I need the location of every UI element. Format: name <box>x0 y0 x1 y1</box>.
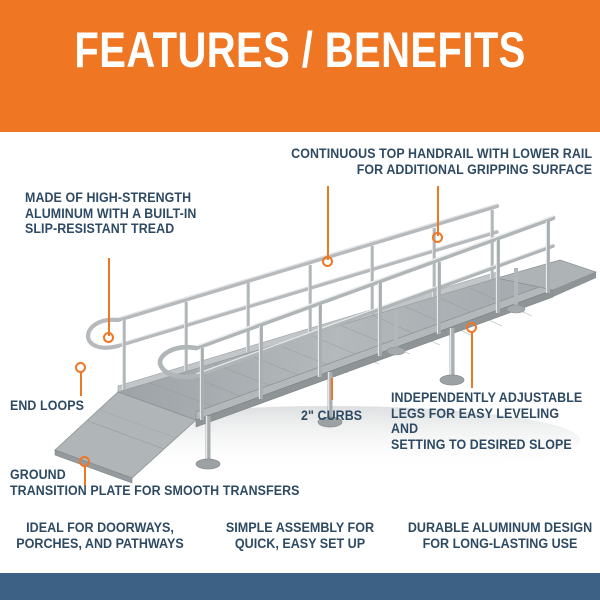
page-title: FEATURES / BENEFITS <box>74 25 525 75</box>
dot-tread <box>103 332 114 343</box>
dot-handrail-b <box>432 232 443 243</box>
features-benefits-infographic: FEATURES / BENEFITS <box>0 0 600 600</box>
leader-handrail-a <box>327 186 329 260</box>
callout-curbs: 2" CURBS <box>301 408 362 424</box>
tagline-row: IDEAL FOR DOORWAYS, PORCHES, AND PATHWAY… <box>0 520 600 572</box>
footer-bar <box>0 573 600 600</box>
header-banner: FEATURES / BENEFITS <box>0 0 600 132</box>
leader-end-loops <box>80 372 82 396</box>
ramp-illustration <box>0 130 600 520</box>
leader-handrail-b <box>437 186 439 236</box>
leader-adjustable-legs <box>471 332 473 388</box>
dot-handrail-a <box>322 256 333 267</box>
callout-aluminum-tread: MADE OF HIGH-STRENGTH ALUMINUM WITH A BU… <box>25 190 196 237</box>
tagline-2: SIMPLE ASSEMBLY FOR QUICK, EASY SET UP <box>207 520 393 552</box>
leader-tread <box>108 258 110 336</box>
leader-curbs <box>331 378 333 400</box>
ramp-svg <box>0 130 600 520</box>
tagline-3: DURABLE ALUMINUM DESIGN FOR LONG-LASTING… <box>407 520 593 552</box>
tagline-1: IDEAL FOR DOORWAYS, PORCHES, AND PATHWAY… <box>7 520 193 552</box>
callout-adjustable-legs: INDEPENDENTLY ADJUSTABLE LEGS FOR EASY L… <box>391 390 583 452</box>
callout-handrail: CONTINUOUS TOP HANDRAIL WITH LOWER RAIL … <box>291 146 592 177</box>
callout-end-loops: END LOOPS <box>10 398 84 414</box>
callout-ground-transition: GROUND TRANSITION PLATE FOR SMOOTH TRANS… <box>10 467 300 498</box>
